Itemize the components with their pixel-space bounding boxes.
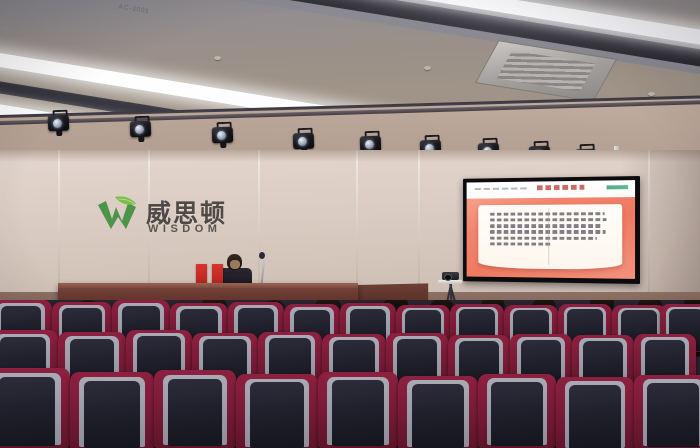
smoke-detector-icon xyxy=(214,56,221,60)
seat-cushion xyxy=(0,377,55,446)
smoke-detector-icon xyxy=(648,92,655,96)
smoke-detector-icon xyxy=(424,66,431,70)
light-nose xyxy=(138,136,144,142)
seat-cushion xyxy=(332,380,385,445)
light-body xyxy=(212,127,234,144)
logo-english-text: WISDOM xyxy=(148,223,221,235)
light-body xyxy=(293,133,315,150)
auditorium-seat xyxy=(398,376,478,448)
moving-head-light xyxy=(130,116,152,144)
slide-title-text xyxy=(537,185,584,191)
light-body xyxy=(130,121,152,138)
company-logo: 威思顿 WISDOM xyxy=(96,193,236,243)
slide-content xyxy=(467,180,635,279)
seat-cushion xyxy=(250,382,304,447)
auditorium-seat xyxy=(70,372,154,448)
camera-lens-icon xyxy=(444,274,452,281)
auditorium-seat xyxy=(0,368,70,448)
tripod-head xyxy=(438,280,462,284)
auditorium-seat xyxy=(318,372,398,448)
slide-paragraph xyxy=(490,212,609,252)
seat-cushion xyxy=(491,382,542,446)
slide-book-graphic xyxy=(478,204,623,269)
seat-cushion xyxy=(84,381,139,448)
auditorium-seat xyxy=(634,375,700,448)
microphone-head-icon xyxy=(259,252,265,259)
auditorium-seat xyxy=(236,374,318,448)
projection-screen xyxy=(463,176,640,284)
wisdom-leaf-mark-icon xyxy=(96,195,140,233)
light-lens-icon xyxy=(217,131,226,140)
moving-head-light xyxy=(212,122,234,150)
auditorium-seat xyxy=(478,374,556,448)
light-lens-icon xyxy=(135,125,144,134)
conference-hall-photo: AC-3001 xyxy=(0,0,700,448)
seat-cushion xyxy=(647,383,698,447)
light-nose xyxy=(56,130,62,136)
camera-body xyxy=(442,272,459,280)
seat-cushion xyxy=(168,379,222,446)
slide-brand-logo-icon xyxy=(607,185,628,189)
wall-top-shadow xyxy=(0,150,700,162)
slide-body xyxy=(467,197,635,279)
moving-head-light xyxy=(48,110,70,138)
ceiling-equipment-label: AC-3001 xyxy=(118,4,150,16)
light-lens-icon xyxy=(298,137,307,146)
auditorium-seat xyxy=(556,377,634,448)
light-nose xyxy=(220,142,226,148)
slide-breadcrumb-text xyxy=(475,187,529,190)
seat-cushion xyxy=(412,384,465,448)
light-lens-icon xyxy=(53,119,62,128)
light-body xyxy=(48,115,70,132)
light-lens-icon xyxy=(365,140,374,149)
seat-cushion xyxy=(569,385,620,448)
seated-audience xyxy=(0,300,700,448)
ceiling-dark-strip xyxy=(184,0,700,82)
auditorium-seat xyxy=(154,370,236,448)
